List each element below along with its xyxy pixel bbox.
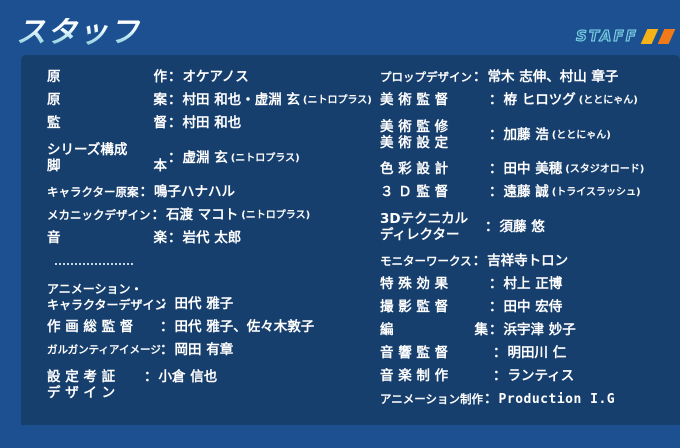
credit-label: 音 響 監 督 [380,345,492,362]
header: スタッフ STAFF [0,0,680,56]
credit-colon: ： [488,161,504,178]
staff-logo: STAFF [576,27,672,45]
credit-label: 特 殊 効 果 [380,276,488,293]
credit-row: ガルガンティアイメージ ： 岡田 有章 [47,342,373,359]
dotted-divider [55,263,133,265]
credit-note: (ととにゃん) [576,92,638,109]
credit-label-stack: 設 定 考 証 デ ザ イ ン [47,369,143,401]
credit-label: モニターワークス [380,253,472,270]
credit-label: メカニックデザイン [47,207,151,224]
credit-label-stack: シリーズ構成 脚 本 [47,142,167,174]
credit-value: 村田 和也 [183,115,242,132]
credit-row: プロップデザイン ： 常木 志伸、村山 章子 [380,69,680,86]
credit-note: (トライスラッシュ) [549,184,641,201]
left-credits-column: 原 作 ： オケアノス 原 案 ： 村田 和也・虚淵 玄 (ニトロプラス) [21,69,373,425]
credit-value: 村田 和也・虚淵 玄 [183,92,300,109]
credit-colon: ： [492,345,508,362]
credit-colon: ： [484,219,500,236]
credit-colon: ： [472,69,488,86]
credit-label: 原 作 [47,69,167,86]
credit-label-line: 脚 本 [47,158,167,174]
credit-row: 編 集 ： 浜宇津 妙子 [380,322,680,339]
credit-note: (ニトロプラス) [238,207,310,224]
credit-label: 音 楽 制 作 [380,368,492,385]
credit-label: 色 彩 設 計 [380,161,488,178]
credit-label: 撮 影 監 督 [380,299,488,316]
credit-label-line: キャラクターデザイン [47,297,159,313]
credit-value: 田中 美穂 [504,161,563,178]
credit-value: 岩代 太郎 [183,230,242,247]
credit-colon: ： [472,253,488,270]
credit-row: 特 殊 効 果 ： 村上 正博 [380,276,680,293]
credit-row-stacked: シリーズ構成 脚 本 ： 虚淵 玄 (ニトロプラス) [47,142,373,174]
credit-label: 監 督 [47,115,167,132]
credit-colon: ： [488,299,504,316]
credit-value: 吉祥寺トロン [487,253,568,270]
credit-value: 田代 雅子、佐々木敦子 [175,319,315,336]
credit-colon: ： [159,342,175,359]
credit-value: 石渡 マコト [166,207,238,224]
credit-row: モニターワークス ： 吉祥寺トロン [380,253,680,270]
credit-value: 鳴子ハナハル [154,184,235,201]
credit-row: 原 案 ： 村田 和也・虚淵 玄 (ニトロプラス) [47,92,373,109]
credit-colon: ： [488,184,504,201]
credit-row-stacked: 設 定 考 証 デ ザ イ ン ： 小倉 信也 [47,369,373,401]
credit-label-line: 3Dテクニカル [380,211,484,227]
credit-label-line: 美 術 設 定 [380,135,488,151]
credit-value: 遠藤 誠 [504,184,549,201]
credit-label: キャラクター原案 [47,184,139,201]
credit-colon: ： [488,92,504,109]
right-credits-column: プロップデザイン ： 常木 志伸、村山 章子 美 術 監 督 ： 栫 ヒロツグ … [373,69,680,425]
credit-colon: ： [159,296,175,313]
credit-note: (スタジオロード) [562,161,644,178]
credit-value: 虚淵 玄 [183,150,228,167]
staff-credits-screen: スタッフ STAFF 原 作 ： オケアノス 原 [0,0,680,448]
page-title: スタッフ [16,18,140,48]
credit-label: 原 案 [47,92,167,109]
credit-note: (ニトロプラス) [228,150,300,167]
credit-colon: ： [167,115,183,132]
accent-bar-yellow-icon [641,29,659,44]
credit-row: 音 楽 制 作 ： ランティス [380,368,680,385]
credit-row: 色 彩 設 計 ： 田中 美穂 (スタジオロード) [380,161,680,178]
credit-value: ランティス [508,368,575,385]
credit-row: 原 作 ： オケアノス [47,69,373,86]
credit-label: 編 集 [380,322,488,339]
credit-label-line: 美 術 監 修 [380,119,488,135]
credit-value: 田中 宏侍 [504,299,563,316]
accent-bar-orange-icon [658,29,676,44]
credit-colon: ： [483,391,499,408]
credit-label-line: デ ザ イ ン [47,385,143,401]
credit-value: 須藤 悠 [500,219,545,236]
credit-colon: ： [159,319,175,336]
credit-value: 村上 正博 [504,276,563,293]
credit-value: 岡田 有章 [175,342,234,359]
credit-row-stacked: 3Dテクニカル ディレクター ： 須藤 悠 [380,211,680,243]
credit-value: 加藤 浩 [504,127,549,144]
credit-label: ガルガンティアイメージ [47,342,159,359]
credit-label-line: シリーズ構成 [47,142,167,158]
credit-label-stack: 3Dテクニカル ディレクター [380,211,484,243]
credit-colon: ： [492,368,508,385]
credit-value: 栫 ヒロツグ [504,92,576,109]
credit-label-line: 設 定 考 証 [47,369,143,385]
credit-label-stack: 美 術 監 修 美 術 設 定 [380,119,488,151]
credit-row: 撮 影 監 督 ： 田中 宏侍 [380,299,680,316]
credit-colon: ： [488,276,504,293]
credit-colon: ： [167,69,183,86]
credit-value: 田代 雅子 [175,296,234,313]
credit-value: 小倉 信也 [159,369,218,386]
credit-value: 浜宇津 妙子 [504,322,576,339]
credit-colon: ： [167,230,183,247]
credit-label: ３ Ｄ 監 督 [380,184,488,201]
credit-label: プロップデザイン [380,69,472,86]
credit-value: 明田川 仁 [508,345,567,362]
credit-row-stacked: 美 術 監 修 美 術 設 定 ： 加藤 浩 (ととにゃん) [380,119,680,151]
credit-colon: ： [167,92,183,109]
credit-value: オケアノス [183,69,249,86]
credit-label: アニメーション制作 [380,391,483,408]
credit-row-stacked: アニメーション・ キャラクターデザイン ： 田代 雅子 [47,281,373,313]
credit-label: 音 楽 [47,230,167,247]
credit-row: 音 楽 ： 岩代 太郎 [47,230,373,247]
credit-note: (ニトロプラス) [300,92,372,109]
credits-columns: 原 作 ： オケアノス 原 案 ： 村田 和也・虚淵 玄 (ニトロプラス) [21,55,680,425]
credit-label-line: ディレクター [380,227,484,243]
credit-row: メカニックデザイン ： 石渡 マコト (ニトロプラス) [47,207,373,224]
credit-colon: ： [151,207,167,224]
credit-value: Production I.G [499,391,616,408]
credit-colon: ： [167,150,183,167]
credit-row: 監 督 ： 村田 和也 [47,115,373,132]
credit-colon: ： [488,322,504,339]
credit-row: 作 画 総 監 督 ： 田代 雅子、佐々木敦子 [47,319,373,336]
credit-label: 美 術 監 督 [380,92,488,109]
staff-logo-text: STAFF [576,27,638,45]
credit-colon: ： [143,369,159,386]
credit-row: ３ Ｄ 監 督 ： 遠藤 誠 (トライスラッシュ) [380,184,680,201]
credit-row: 美 術 監 督 ： 栫 ヒロツグ (ととにゃん) [380,92,680,109]
credit-label-stack: アニメーション・ キャラクターデザイン [47,281,159,313]
credit-colon: ： [139,184,155,201]
credit-note: (ととにゃん) [549,127,611,144]
credit-value: 常木 志伸、村山 章子 [488,69,619,86]
credit-label: 作 画 総 監 督 [47,319,159,336]
credit-colon: ： [488,127,504,144]
credit-row: アニメーション制作 ： Production I.G [380,391,680,408]
credit-row: キャラクター原案 ： 鳴子ハナハル [47,184,373,201]
credits-panel: 原 作 ： オケアノス 原 案 ： 村田 和也・虚淵 玄 (ニトロプラス) [21,55,680,425]
credit-row: 音 響 監 督 ： 明田川 仁 [380,345,680,362]
credit-label-line: アニメーション・ [47,281,159,297]
